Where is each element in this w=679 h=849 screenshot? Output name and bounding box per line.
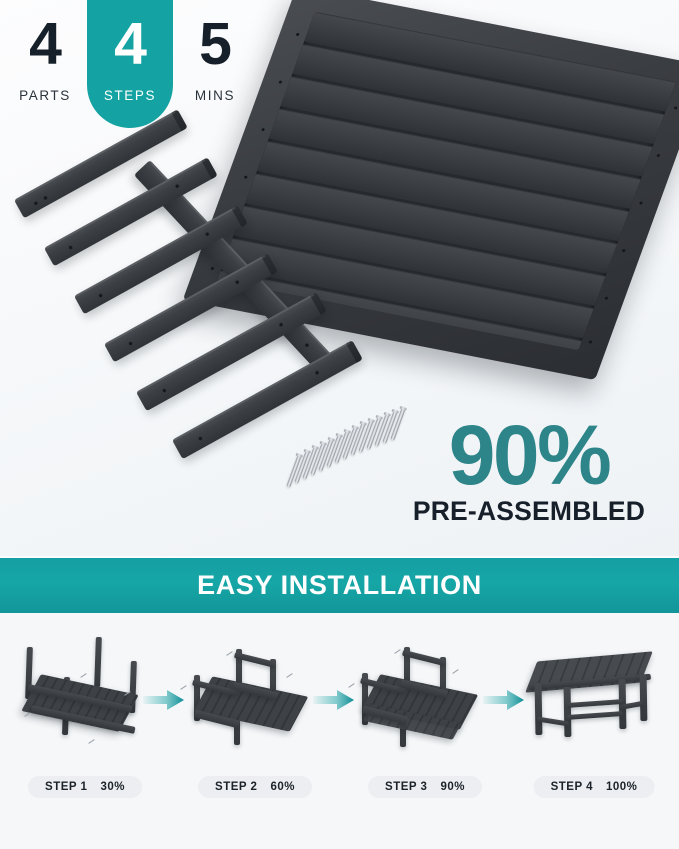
screws-group [292,408,412,494]
stat-parts-number: 4 [2,8,88,80]
stat-mins-number: 5 [172,8,258,80]
step-2-percent: 60% [270,781,295,793]
pre-assembled-callout: 90% PRE-ASSEMBLED [397,412,661,527]
stat-mins-label: MINS [172,88,258,103]
step-1-percent: 30% [100,781,125,793]
step-column-3: STEP 390% [340,613,510,849]
step-3-label: STEP 390% [368,776,482,798]
stat-steps: 4 STEPS [87,0,173,128]
step-1-name: STEP 1 [45,781,87,793]
step-4-label: STEP 4100% [534,776,655,798]
step-2-name: STEP 2 [215,781,257,793]
banner-title: EASY INSTALLATION [197,570,482,601]
step-4-illustration [509,631,679,759]
pre-assembled-caption: PRE-ASSEMBLED [397,496,661,527]
step-column-4: STEP 4100% [509,613,679,849]
step-column-2: STEP 260% [170,613,340,849]
easy-installation-banner: EASY INSTALLATION [0,558,679,613]
stat-strip: 4 PARTS 4 STEPS 5 MINS [0,0,270,130]
step-column-1: STEP 130% [0,613,170,849]
stat-parts: 4 PARTS [2,0,88,128]
stat-steps-label: STEPS [87,88,173,103]
stat-parts-label: PARTS [2,88,88,103]
step-4-name: STEP 4 [551,781,593,793]
infographic-page: 4 PARTS 4 STEPS 5 MINS 90% PRE-ASSEMBLED… [0,0,679,849]
stat-mins: 5 MINS [172,0,258,128]
installation-steps-section: STEP 130% [0,613,679,849]
step-4-percent: 100% [606,781,637,793]
step-2-label: STEP 260% [198,776,312,798]
step-3-percent: 90% [440,781,465,793]
stat-steps-number: 4 [87,8,173,80]
step-1-label: STEP 130% [28,776,142,798]
pre-assembled-percent: 90% [397,412,661,498]
step-3-name: STEP 3 [385,781,427,793]
hero-section: 4 PARTS 4 STEPS 5 MINS 90% PRE-ASSEMBLED [0,0,679,556]
